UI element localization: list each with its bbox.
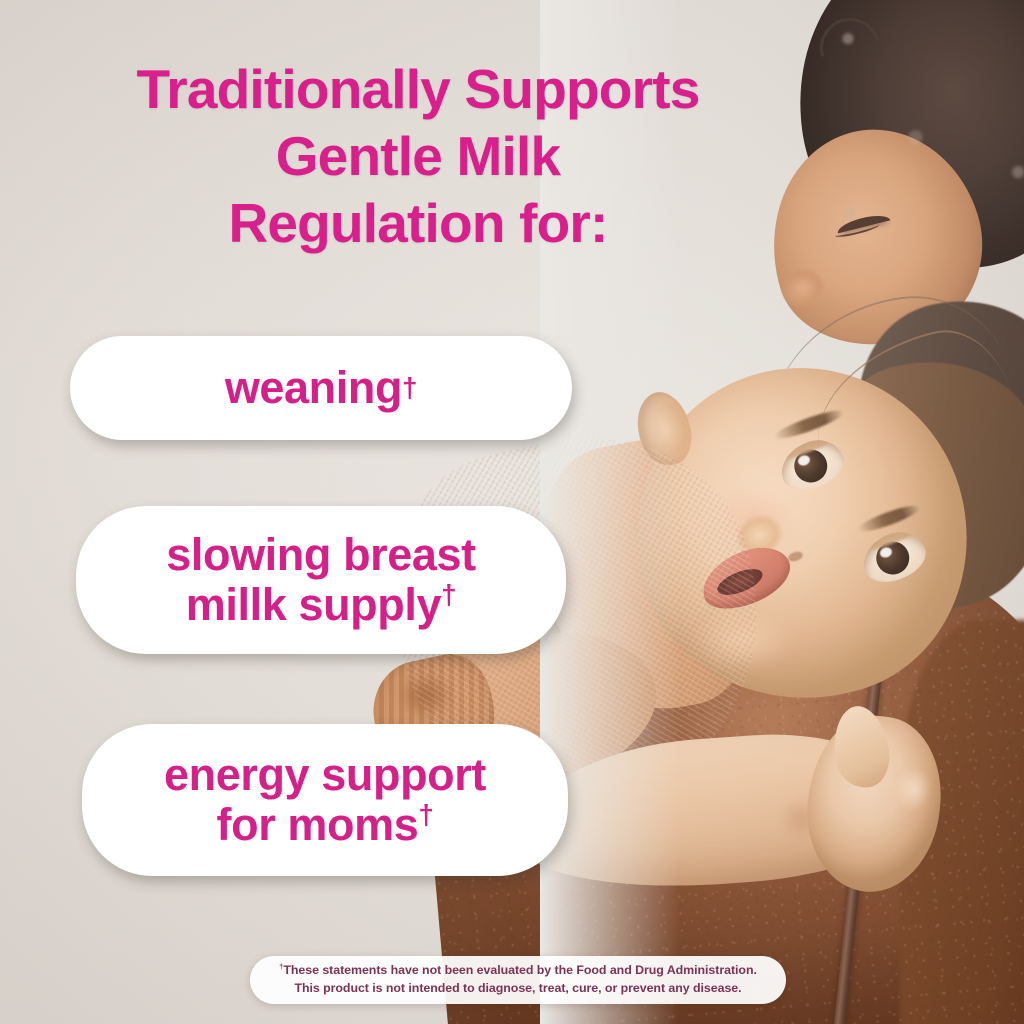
benefit-pill-list: weaning † slowing breast millk supply† e… (0, 336, 620, 876)
footnote-dagger-slowing: † (441, 579, 456, 610)
benefit-pill-energy-line-2: for moms† (164, 800, 486, 850)
benefit-pill-slowing-line-2-text: millk supply (186, 579, 441, 630)
fda-disclaimer-line-1: †These statements have not been evaluate… (279, 962, 757, 980)
benefit-pill-slowing-line-1: slowing breast (166, 530, 475, 580)
benefit-pill-slowing-milk-supply-text: slowing breast millk supply† (166, 530, 475, 631)
footnote-dagger-energy: † (418, 799, 433, 830)
benefit-pill-energy-support-text: energy support for moms† (164, 750, 486, 851)
fda-disclaimer-line-1-text: These statements have not been evaluated… (283, 963, 757, 977)
benefit-pill-slowing-line-2: millk supply† (166, 580, 475, 630)
headline: Traditionally Supports Gentle Milk Regul… (46, 56, 790, 257)
headline-line-1: Traditionally Supports (46, 56, 790, 123)
benefit-pill-slowing-milk-supply[interactable]: slowing breast millk supply† (76, 506, 566, 654)
headline-line-2: Gentle Milk (46, 123, 790, 190)
fda-disclaimer: †These statements have not been evaluate… (250, 956, 786, 1004)
benefit-pill-weaning-line-1: weaning (225, 363, 402, 413)
headline-line-3: Regulation for: (46, 190, 790, 257)
benefit-pill-energy-line-1: energy support (164, 750, 486, 800)
baby-knuckle (890, 760, 936, 818)
fda-disclaimer-body: †These statements have not been evaluate… (279, 962, 757, 997)
benefit-pill-energy-line-2-text: for moms (217, 799, 419, 850)
baby-chin (678, 600, 808, 680)
benefit-pill-weaning-text: weaning (225, 363, 402, 413)
benefit-pill-energy-support[interactable]: energy support for moms† (82, 724, 568, 876)
promo-graphic: Traditionally Supports Gentle Milk Regul… (0, 0, 1024, 1024)
fda-disclaimer-line-2: This product is not intended to diagnose… (279, 980, 757, 998)
benefit-pill-weaning[interactable]: weaning † (70, 336, 572, 440)
